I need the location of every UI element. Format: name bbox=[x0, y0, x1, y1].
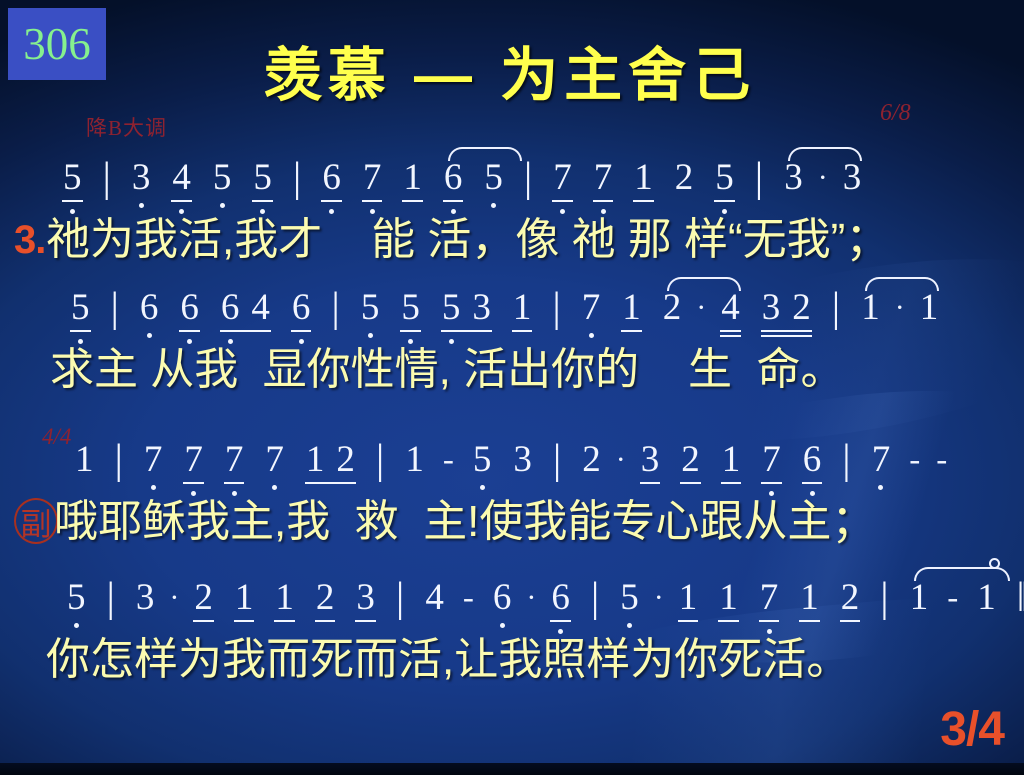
dotted-duration-dot: · bbox=[526, 578, 536, 618]
note-5: 5 bbox=[484, 158, 503, 198]
note-1: 1 bbox=[306, 440, 325, 480]
note-6: 6 bbox=[221, 288, 240, 328]
note-6: 6 bbox=[803, 440, 822, 480]
note-2: 2 bbox=[316, 578, 335, 618]
dotted-duration-dot: · bbox=[696, 288, 706, 328]
note-4: 4 bbox=[425, 578, 444, 618]
note-6: 6 bbox=[551, 578, 570, 618]
note-2: 2 bbox=[841, 578, 860, 618]
barline: | bbox=[99, 158, 115, 198]
note-5: 5 bbox=[361, 288, 380, 328]
verse-number: 3. bbox=[14, 218, 45, 263]
note-4: 4 bbox=[172, 158, 191, 198]
barline: | bbox=[520, 158, 536, 198]
note-1: 1 bbox=[403, 158, 422, 198]
barline: | bbox=[289, 158, 305, 198]
note-1: 1 bbox=[622, 288, 641, 328]
duration-dash: - bbox=[463, 578, 474, 618]
note-5: 5 bbox=[67, 578, 86, 618]
note-6: 6 bbox=[493, 578, 512, 618]
duration-dash: - bbox=[936, 440, 947, 480]
note-6: 6 bbox=[180, 288, 199, 328]
note-7: 7 bbox=[184, 440, 203, 480]
note-1: 1 bbox=[405, 440, 424, 480]
notation-line-4: 5|3·21123|4-6·6|5·11712|1-1‖ bbox=[56, 578, 1022, 640]
hymn-number: 306 bbox=[23, 22, 91, 67]
barline: | bbox=[549, 440, 565, 480]
barline: | bbox=[838, 440, 854, 480]
barline: | bbox=[548, 288, 564, 328]
note-1: 1 bbox=[977, 578, 996, 618]
hymn-number-badge: 306 bbox=[8, 8, 106, 80]
note-1: 1 bbox=[235, 578, 254, 618]
note-1: 1 bbox=[722, 440, 741, 480]
sixteenth-beam bbox=[720, 335, 741, 337]
page-indicator: 3/4 bbox=[940, 702, 1004, 757]
note-2: 2 bbox=[194, 578, 213, 618]
note-5: 5 bbox=[71, 288, 90, 328]
note-2: 2 bbox=[792, 288, 811, 328]
sixteenth-beam bbox=[782, 335, 812, 337]
note-7: 7 bbox=[594, 158, 613, 198]
note-1: 1 bbox=[275, 578, 294, 618]
note-1: 1 bbox=[910, 578, 929, 618]
barline: | bbox=[751, 158, 767, 198]
duration-dash: - bbox=[443, 440, 454, 480]
note-3: 3 bbox=[513, 440, 532, 480]
note-6: 6 bbox=[322, 158, 341, 198]
note-7: 7 bbox=[265, 440, 284, 480]
note-1: 1 bbox=[513, 288, 532, 328]
note-7: 7 bbox=[872, 440, 891, 480]
note-5: 5 bbox=[473, 440, 492, 480]
note-1: 1 bbox=[861, 288, 880, 328]
barline: | bbox=[327, 288, 343, 328]
note-1: 1 bbox=[920, 288, 939, 328]
barline: | bbox=[372, 440, 388, 480]
lyrics-line-2: 求主 从我 显你性情, 活出你的 生 命。 bbox=[50, 344, 844, 396]
note-1: 1 bbox=[679, 578, 698, 618]
note-2: 2 bbox=[582, 440, 601, 480]
note-7: 7 bbox=[553, 158, 572, 198]
hymn-title: 羡慕 — 为主舍己 bbox=[190, 28, 830, 112]
note-5: 5 bbox=[715, 158, 734, 198]
note-7: 7 bbox=[363, 158, 382, 198]
barline: | bbox=[587, 578, 603, 618]
lyrics-line-4: 你怎样为我而死而活,让我照样为你死活。 bbox=[46, 634, 850, 686]
dotted-duration-dot: · bbox=[654, 578, 664, 618]
dotted-duration-dot: · bbox=[818, 158, 828, 198]
chorus-marker: 副 bbox=[14, 498, 58, 544]
note-3: 3 bbox=[136, 578, 155, 618]
note-5: 5 bbox=[213, 158, 232, 198]
note-3: 3 bbox=[132, 158, 151, 198]
note-7: 7 bbox=[762, 440, 781, 480]
dotted-duration-dot: · bbox=[169, 578, 179, 618]
duration-dash: - bbox=[947, 578, 958, 618]
slide-bottom-edge bbox=[0, 763, 1024, 775]
barline: | bbox=[107, 288, 123, 328]
notation-line-2: 5|66646|55531|712·432|1·1 bbox=[60, 288, 949, 350]
note-5: 5 bbox=[620, 578, 639, 618]
barline: | bbox=[392, 578, 408, 618]
note-1: 1 bbox=[719, 578, 738, 618]
barline: | bbox=[103, 578, 119, 618]
note-3: 3 bbox=[356, 578, 375, 618]
note-4: 4 bbox=[721, 288, 740, 328]
note-7: 7 bbox=[760, 578, 779, 618]
note-3: 3 bbox=[784, 158, 803, 198]
note-6: 6 bbox=[444, 158, 463, 198]
note-7: 7 bbox=[144, 440, 163, 480]
note-3: 3 bbox=[762, 288, 781, 328]
note-3: 3 bbox=[472, 288, 491, 328]
final-barline: ‖ bbox=[1013, 578, 1023, 618]
note-2: 2 bbox=[663, 288, 682, 328]
time-signature-first: 6/8 bbox=[880, 100, 911, 127]
note-7: 7 bbox=[582, 288, 601, 328]
note-6: 6 bbox=[292, 288, 311, 328]
note-2: 2 bbox=[681, 440, 700, 480]
note-3: 3 bbox=[843, 158, 862, 198]
lyrics-line-3: 哦耶稣我主,我 救 主!使我能专心跟从主； bbox=[54, 496, 875, 548]
note-5: 5 bbox=[63, 158, 82, 198]
notation-line-1: 5|3455|67165|77125|3·3 bbox=[52, 158, 872, 220]
note-3: 3 bbox=[641, 440, 660, 480]
hymn-slide: 306 羡慕 — 为主舍己 降B大调 6/8 4/4 3. 副 5|3455|6… bbox=[0, 0, 1024, 775]
key-signature-label: 降B大调 bbox=[86, 112, 167, 142]
duration-dash: - bbox=[909, 440, 920, 480]
dotted-duration-dot: · bbox=[616, 440, 626, 480]
note-5: 5 bbox=[253, 158, 272, 198]
dotted-duration-dot: · bbox=[895, 288, 905, 328]
note-7: 7 bbox=[225, 440, 244, 480]
barline: | bbox=[111, 440, 127, 480]
note-6: 6 bbox=[140, 288, 159, 328]
notation-line-3: 1|777712|1-53|2·32176|7-- bbox=[64, 440, 955, 502]
barline: | bbox=[828, 288, 844, 328]
fermata-icon bbox=[989, 558, 1000, 569]
barline: | bbox=[876, 578, 892, 618]
note-5: 5 bbox=[401, 288, 420, 328]
lyrics-line-1: 祂为我活,我才 能 活，像 祂 那 样“无我”； bbox=[46, 214, 889, 266]
note-1: 1 bbox=[634, 158, 653, 198]
note-5: 5 bbox=[442, 288, 461, 328]
note-2: 2 bbox=[336, 440, 355, 480]
note-2: 2 bbox=[675, 158, 694, 198]
note-1: 1 bbox=[800, 578, 819, 618]
note-4: 4 bbox=[251, 288, 270, 328]
note-1: 1 bbox=[75, 440, 94, 480]
